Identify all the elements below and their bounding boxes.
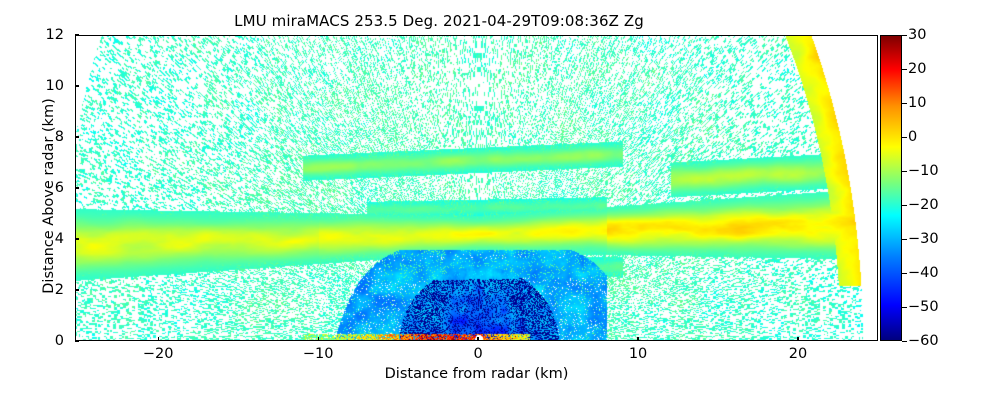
y-tick-label: 12 [0,27,64,43]
colorbar-tick-label: 20 [908,61,926,77]
x-tick-label: 20 [789,346,807,362]
colorbar [880,35,902,341]
y-tick [75,85,79,86]
y-tick [75,187,79,188]
colorbar-gradient [880,35,902,341]
colorbar-tick [902,307,907,308]
colorbar-tick-label: 30 [908,27,926,43]
colorbar-tick [902,239,907,240]
colorbar-tick-label: 0 [908,129,917,145]
y-tick [75,34,79,35]
x-tick-label: 0 [473,346,482,362]
x-axis-label: Distance from radar (km) [75,366,878,382]
x-tick [318,337,319,341]
colorbar-tick [902,205,907,206]
x-tick-label: 10 [629,346,647,362]
colorbar-tick-label: −10 [908,163,939,179]
colorbar-tick-label: −50 [908,299,939,315]
x-tick [797,337,798,341]
x-tick-label: −10 [303,346,334,362]
figure-title: LMU miraMACS 253.5 Deg. 2021-04-29T09:08… [0,12,878,30]
plot-area [75,35,878,341]
colorbar-tick-label: −30 [908,231,939,247]
y-tick [75,238,79,239]
radar-reflectivity-canvas [76,36,878,341]
y-tick [75,136,79,137]
colorbar-tick [902,171,907,172]
colorbar-tick [902,103,907,104]
colorbar-tick-label: −60 [908,333,939,349]
colorbar-tick-label: 10 [908,95,926,111]
y-axis-label: Distance Above radar (km) [41,43,57,349]
y-tick [75,289,79,290]
colorbar-tick [902,341,907,342]
radar-rhi-figure: LMU miraMACS 253.5 Deg. 2021-04-29T09:08… [0,0,1000,400]
x-tick-label: −20 [143,346,174,362]
x-tick [477,337,478,341]
colorbar-tick-label: −20 [908,197,939,213]
colorbar-tick [902,69,907,70]
x-tick [637,337,638,341]
colorbar-tick [902,35,907,36]
colorbar-tick [902,273,907,274]
y-tick [75,340,79,341]
x-tick [158,337,159,341]
colorbar-tick-label: −40 [908,265,939,281]
colorbar-tick [902,137,907,138]
